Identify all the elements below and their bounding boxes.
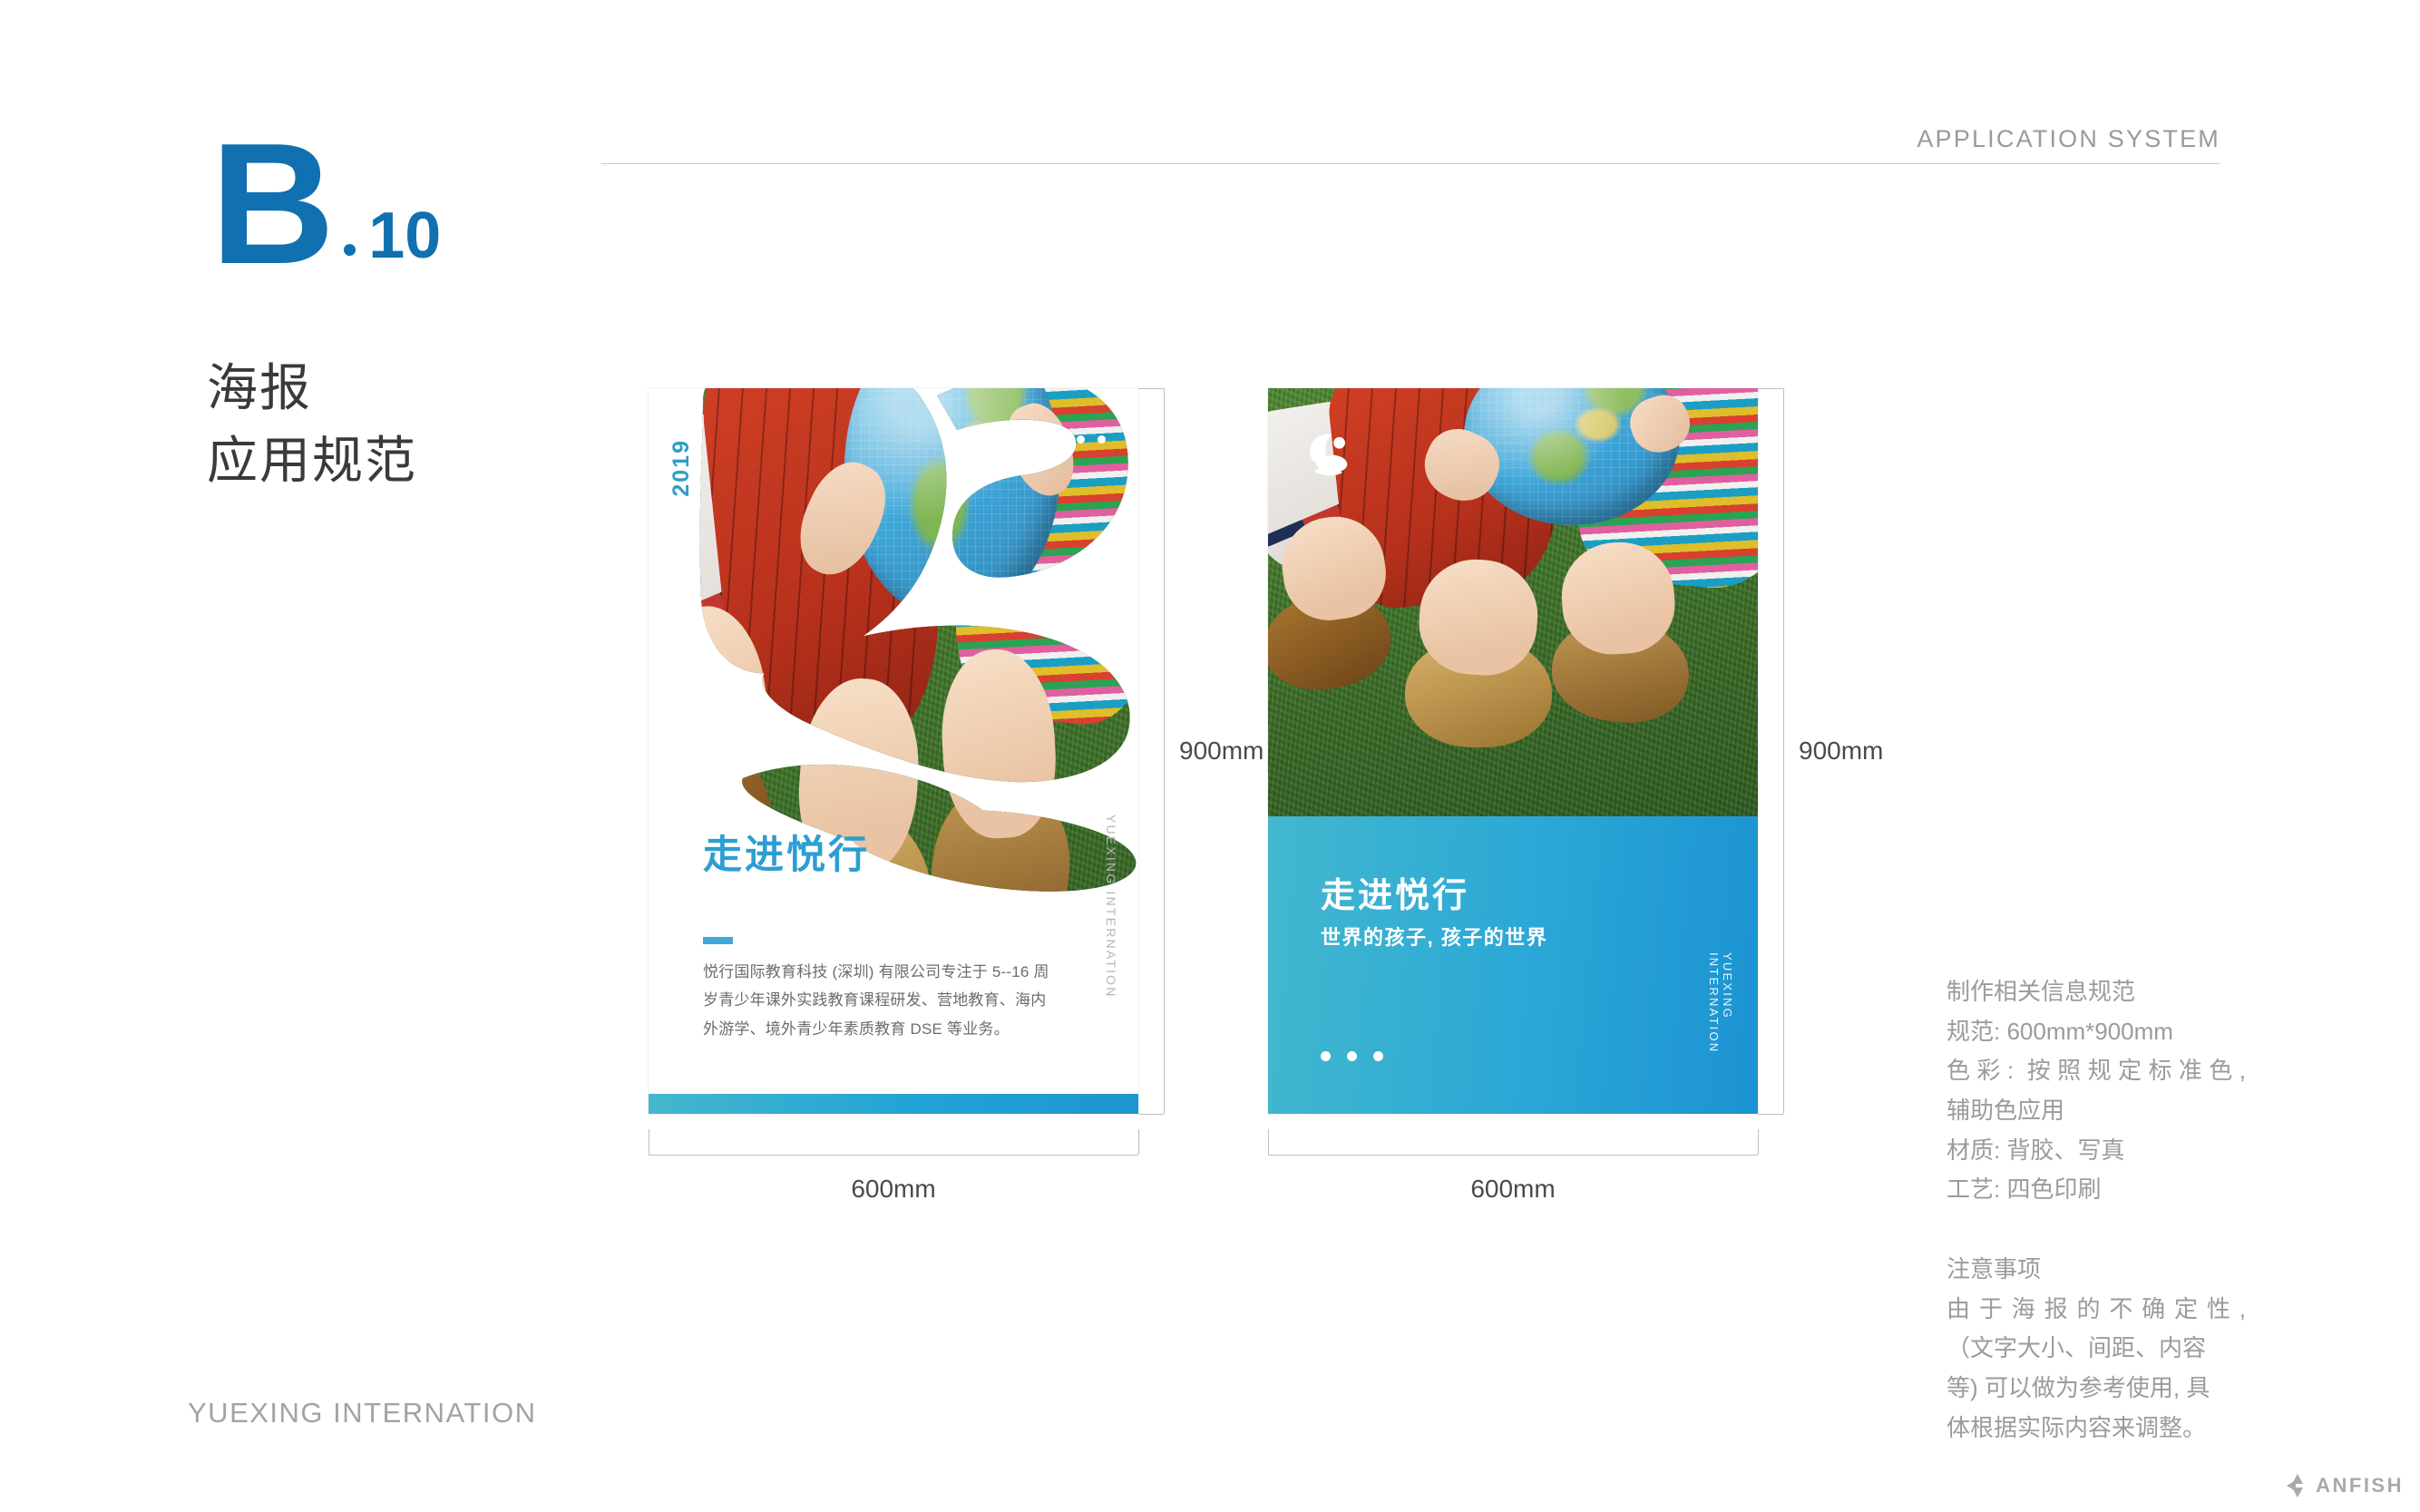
spec-color-2: 辅助色应用 [1947, 1091, 2246, 1131]
header-divider [601, 163, 2220, 164]
spec-heading: 制作相关信息规范 [1947, 972, 2246, 1012]
notes-line-4: 体根据实际内容来调整。 [1947, 1409, 2246, 1449]
poster-two-width-guide [1268, 1155, 1758, 1156]
poster-one-height-label: 900mm [1179, 736, 1264, 766]
poster-two-height-guide [1783, 388, 1784, 1114]
notes-line-1: 由于海报的不确定性, [1947, 1290, 2246, 1330]
poster-two-height-tick-top [1758, 388, 1783, 389]
slide-canvas: APPLICATION SYSTEM B 10 海报 应用规范 [0, 0, 2420, 1512]
poster-one-body-text: 悦行国际教育科技 (深圳) 有限公司专注于 5--16 周岁青少年课外实践教育课… [703, 958, 1059, 1043]
poster-two-subheadline: 世界的孩子, 孩子的世界 [1321, 922, 1547, 951]
poster-one-height-tick-bottom [1138, 1114, 1164, 1115]
production-spec-block: 制作相关信息规范 规范: 600mm*900mm 色彩: 按照规定标准色, 辅助… [1947, 972, 2246, 1210]
poster-two-photo [1268, 388, 1758, 816]
notes-block: 注意事项 由于海报的不确定性, （文字大小、间距、内容 等) 可以做为参考使用,… [1947, 1250, 2246, 1448]
notes-line-2: （文字大小、间距、内容 [1947, 1329, 2246, 1369]
poster-one-vertical-brand: YUEXING INTERNATION [1104, 815, 1118, 999]
poster-one-year: 2019 [668, 439, 695, 497]
poster-two-dots-icon [1321, 1051, 1383, 1061]
notes-heading: 注意事项 [1947, 1250, 2246, 1290]
poster-one-headline: 走进悦行 [703, 824, 870, 880]
poster-two-width-tick-right [1758, 1129, 1759, 1155]
poster-two-height-label: 900mm [1799, 736, 1883, 766]
poster-one-width-label: 600mm [851, 1175, 935, 1204]
poster-one-height-guide [1164, 388, 1165, 1114]
spec-process: 工艺: 四色印刷 [1947, 1170, 2246, 1210]
application-system-label: APPLICATION SYSTEM [1917, 125, 2220, 153]
spec-material: 材质: 背胶、写真 [1947, 1131, 2246, 1171]
poster-one-width-tick-right [1138, 1129, 1139, 1155]
poster-one-height-tick-top [1138, 388, 1164, 389]
poster-two-height-tick-bottom [1758, 1114, 1783, 1115]
yuexing-logo-icon [1303, 428, 1355, 481]
poster-one-dots-icon [1056, 435, 1106, 444]
footer-brand: YUEXING INTERNATION [188, 1397, 536, 1429]
poster-two-vertical-brand: YUEXING INTERNATION [1707, 952, 1734, 1114]
poster-two-block: 走进悦行 世界的孩子, 孩子的世界 YUEXING INTERNATION 90… [0, 0, 490, 726]
poster-two-text-panel: 走进悦行 世界的孩子, 孩子的世界 YUEXING INTERNATION [1268, 816, 1758, 1114]
spec-size: 规范: 600mm*900mm [1947, 1012, 2246, 1052]
poster-one-artwork[interactable]: 2019 走进悦行 悦行国际教育科技 (深圳) 有限公司专注于 5--16 周岁… [649, 388, 1138, 1114]
poster-one-width-tick-left [649, 1129, 649, 1155]
poster-one-width-guide [649, 1155, 1138, 1156]
fish-icon [2283, 1472, 2314, 1499]
watermark-text: ANFISH [2316, 1474, 2404, 1497]
poster-one-accent-rule [703, 937, 733, 944]
sanfish-watermark: ANFISH [2283, 1472, 2404, 1499]
poster-two-headline: 走进悦行 [1321, 867, 1469, 917]
poster-two-width-label: 600mm [1470, 1175, 1555, 1204]
notes-line-3: 等) 可以做为参考使用, 具 [1947, 1369, 2246, 1409]
poster-two-artwork[interactable]: 走进悦行 世界的孩子, 孩子的世界 YUEXING INTERNATION [1268, 388, 1758, 1114]
poster-one-footer-bar [649, 1094, 1138, 1114]
poster-two-width-tick-left [1268, 1129, 1269, 1155]
spec-color-1: 色彩: 按照规定标准色, [1947, 1051, 2246, 1091]
